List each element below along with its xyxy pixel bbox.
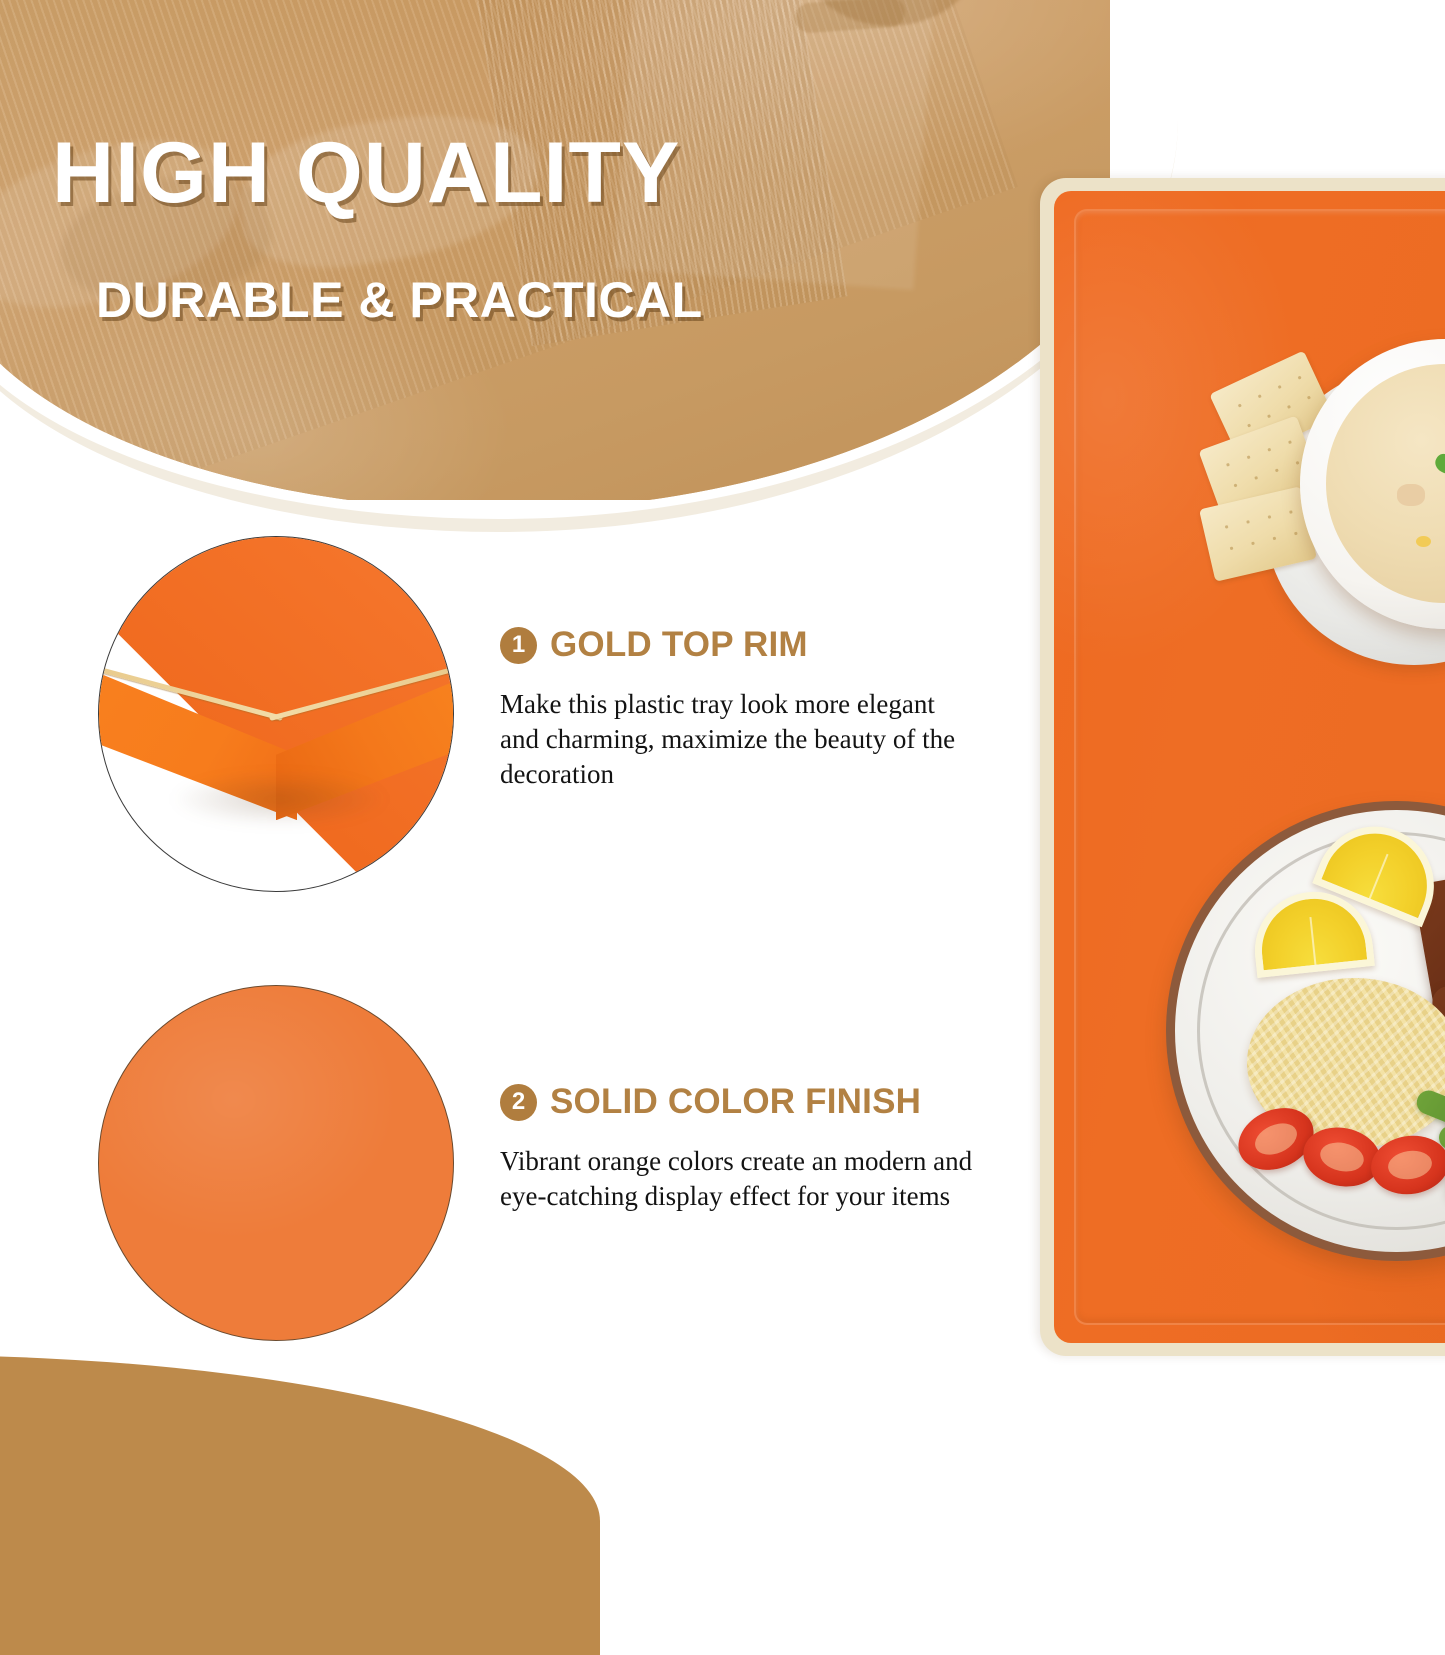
color-swatch-sheen [99, 986, 453, 1340]
page-headline: HIGH QUALITY [52, 130, 680, 216]
feature-1-number-badge: 1 [500, 627, 537, 664]
banner-shape [0, 0, 1110, 500]
tray-inner-surface [1054, 191, 1445, 1343]
feature-2-title: SOLID COLOR FINISH [550, 1082, 921, 1122]
bottom-left-wave-decoration [0, 1355, 600, 1655]
steak-plate-set [1166, 801, 1445, 1343]
feature-1-title: GOLD TOP RIM [550, 625, 808, 665]
feature-2-number-badge: 2 [500, 1084, 537, 1121]
feature-block-2: 2 SOLID COLOR FINISH Vibrant orange colo… [500, 1082, 1000, 1214]
soup-chunk [1397, 484, 1425, 506]
page-subheadline: DURABLE & PRACTICAL [96, 275, 703, 325]
feature-1-heading-row: 1 GOLD TOP RIM [500, 625, 1000, 665]
feature-block-1: 1 GOLD TOP RIM Make this plastic tray lo… [500, 625, 1000, 792]
feature-1-image-tray-corner [98, 536, 454, 892]
corn-soup [1326, 364, 1445, 603]
soup-bowl-set [1204, 339, 1445, 669]
tray-corner-illustration [99, 537, 453, 891]
feature-2-description: Vibrant orange colors create an modern a… [500, 1144, 980, 1214]
dinner-plate [1166, 801, 1445, 1261]
feature-2-image-color-swatch [98, 985, 454, 1341]
tray-corner-shadow [170, 771, 389, 828]
product-tray [1040, 178, 1445, 1356]
top-banner [0, 0, 1110, 500]
feature-1-description: Make this plastic tray look more elegant… [500, 687, 980, 792]
feature-2-heading-row: 2 SOLID COLOR FINISH [500, 1082, 1000, 1122]
corn-kernel [1416, 536, 1431, 547]
parsley-garnish [1432, 451, 1445, 478]
